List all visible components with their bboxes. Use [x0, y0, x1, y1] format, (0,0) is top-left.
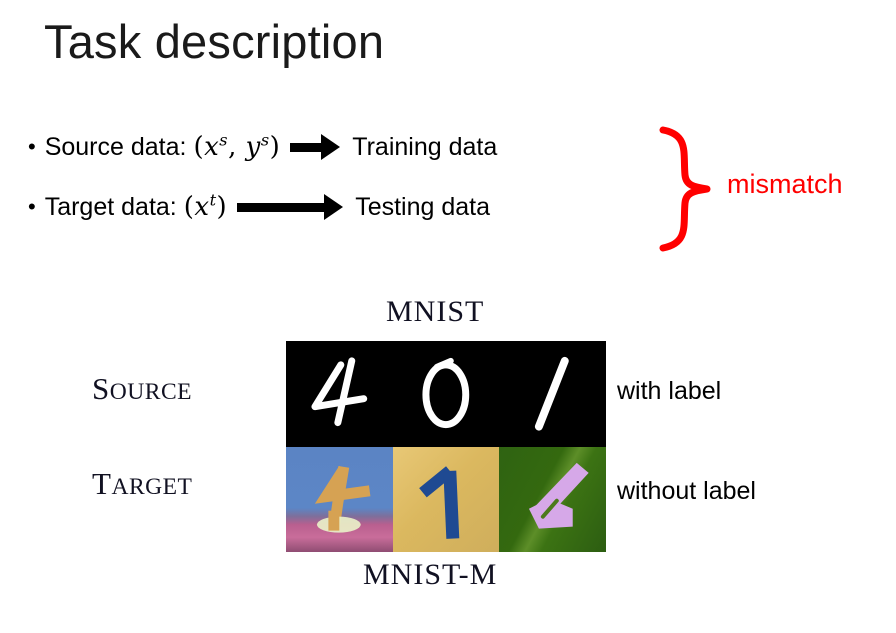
right-arrow-icon	[290, 134, 340, 160]
row-label-source-initial: S	[92, 371, 110, 406]
image-row-mnistm-target	[286, 447, 606, 553]
mnist-digit-tile-0	[393, 341, 500, 447]
dataset-figure: MNIST SOURCE TARGET with label without l…	[0, 295, 896, 615]
bullet-row-target: • Target data: (xt) Testing data	[28, 192, 490, 222]
row-label-source-rest: OURCE	[110, 379, 192, 405]
bullet-label-target: Target data:	[45, 193, 177, 222]
mismatch-label: mismatch	[727, 169, 843, 200]
blended-digit-6-glyph	[499, 447, 606, 553]
destination-training-data: Training data	[352, 133, 497, 162]
math-var-ys: y	[246, 132, 261, 162]
math-var-xs: x	[204, 132, 219, 162]
row-label-target-initial: T	[92, 466, 111, 501]
mnist-digit-tile-1	[499, 341, 606, 447]
arrow-shaft	[237, 203, 325, 212]
bullet-label-source: Source data:	[45, 133, 187, 162]
mnistm-digit-tile-4	[286, 447, 393, 553]
math-source-pair: (xs, ys)	[193, 132, 280, 162]
sample-image-grid	[286, 341, 606, 552]
long-right-arrow-icon	[237, 194, 343, 220]
math-sup-ys: s	[261, 130, 270, 149]
destination-testing-data: Testing data	[355, 193, 490, 222]
arrow-head	[324, 194, 343, 220]
arrow-head	[321, 134, 340, 160]
blended-digit-4-glyph	[286, 447, 393, 553]
mnistm-digit-tile-1	[393, 447, 500, 553]
mismatch-annotation: mismatch	[655, 125, 895, 253]
handwritten-digit-1-glyph	[499, 341, 606, 447]
math-var-xt: x	[194, 192, 209, 222]
row-label-target-rest: ARGET	[111, 474, 192, 500]
side-note-with-label: with label	[617, 377, 721, 406]
math-sup-xs: s	[219, 130, 228, 149]
bullet-marker-icon: •	[28, 196, 36, 218]
side-note-without-label: without label	[617, 477, 756, 506]
handwritten-digit-0-glyph	[393, 341, 500, 447]
mnist-digit-tile-4	[286, 341, 393, 447]
bullet-row-source: • Source data: (xs, ys) Training data	[28, 132, 497, 162]
image-row-mnist-source	[286, 341, 606, 447]
figure-caption-mnistm: MNIST-M	[363, 558, 497, 592]
mnistm-digit-tile-6	[499, 447, 606, 553]
page-title: Task description	[44, 14, 384, 69]
right-curly-brace-icon	[655, 125, 725, 253]
handwritten-digit-4-glyph	[286, 341, 393, 447]
row-label-source: SOURCE	[92, 371, 192, 407]
figure-caption-mnist: MNIST	[386, 295, 484, 329]
math-target-pair: (xt)	[184, 192, 227, 222]
arrow-shaft	[290, 143, 322, 152]
row-label-target: TARGET	[92, 466, 192, 502]
bullet-marker-icon: •	[28, 136, 36, 158]
blended-digit-1-glyph	[393, 447, 500, 553]
math-sup-xt: t	[210, 190, 217, 209]
